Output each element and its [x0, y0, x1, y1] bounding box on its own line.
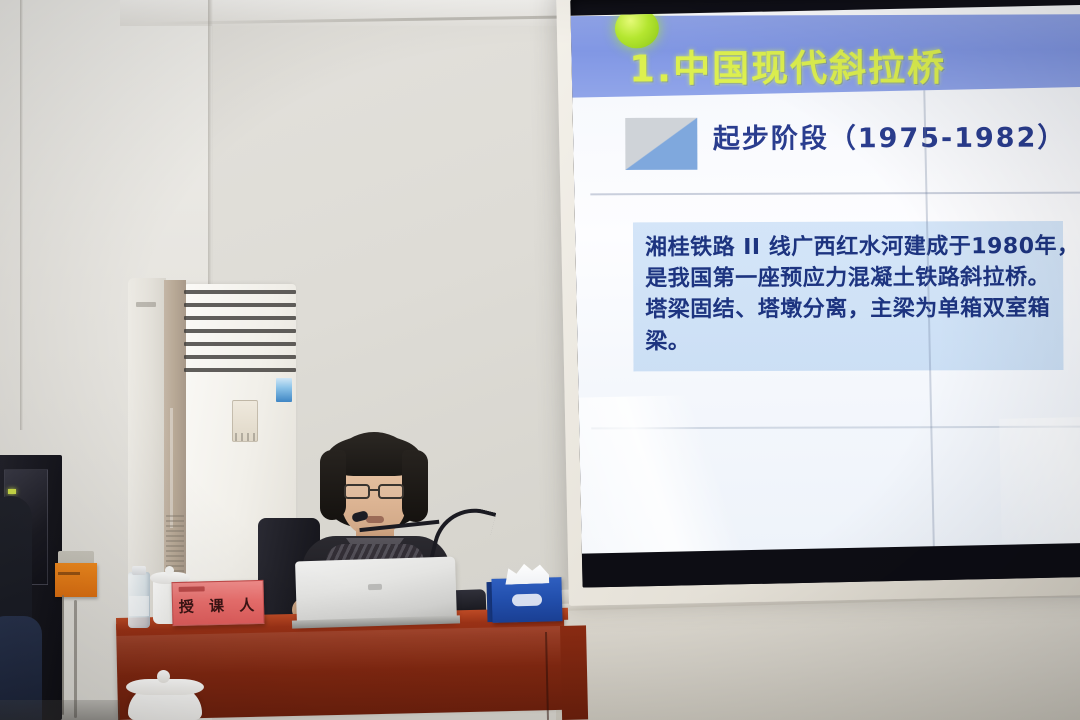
podium-right-section	[560, 625, 588, 720]
projection-screen-frame: 1.中国现代斜拉桥 起步阶段（1975-1982） 湘桂铁路 II 线广西红水河…	[556, 0, 1080, 606]
junction-box-label	[58, 572, 80, 575]
screen-glare-secondary	[999, 415, 1080, 556]
power-cable	[62, 595, 64, 715]
diagonal-square-icon	[625, 118, 697, 170]
slide-subtitle: 起步阶段（1975-1982）	[713, 116, 1067, 156]
instructor-nameplate: 授 课 人	[171, 580, 264, 626]
teapot-lid-knob[interactable]	[157, 670, 170, 683]
laptop-brand-logo-icon	[368, 584, 382, 590]
slide-body: 起步阶段（1975-1982） 湘桂铁路 II 线广西红水河建成于1980年， …	[572, 87, 1080, 556]
slide-body-line: 梁。	[645, 325, 1051, 358]
floor-shadow	[0, 700, 120, 720]
orange-wall-junction-box[interactable]	[55, 563, 97, 597]
ac-brand-logo-icon	[136, 302, 156, 307]
laptop-computer[interactable]	[295, 557, 457, 626]
ac-louver-grille	[184, 286, 296, 372]
ac-pillar-highlight	[170, 408, 173, 528]
wall-seam	[20, 0, 23, 430]
ac-vent-grille	[166, 514, 184, 572]
slide-divider-lower	[591, 426, 1080, 430]
ac-energy-label	[276, 378, 292, 402]
slide-title: 1.中国现代斜拉桥	[629, 37, 946, 92]
slide-body-textbox: 湘桂铁路 II 线广西红水河建成于1980年， 是我国第一座预应力混凝土铁路斜拉…	[633, 221, 1064, 371]
presentation-slide: 1.中国现代斜拉桥 起步阶段（1975-1982） 湘桂铁路 II 线广西红水河…	[571, 5, 1080, 556]
slide-body-line: 是我国第一座预应力混凝土铁路斜拉桥。	[645, 262, 1051, 295]
slide-divider-upper	[590, 192, 1080, 196]
hair-left-side	[320, 450, 346, 520]
status-led-icon	[8, 489, 16, 494]
ac-control-buttons[interactable]	[235, 433, 255, 441]
bottle-cap[interactable]	[132, 566, 146, 575]
slide-body-line: 湘桂铁路 II 线广西红水河建成于1980年，	[645, 231, 1051, 264]
tissue-box-logo-icon	[512, 594, 542, 607]
nameplate-logo-icon	[179, 586, 205, 592]
screen-glare	[571, 392, 856, 556]
wainscot-panel	[556, 598, 1080, 720]
glasses-left-lens-icon	[344, 484, 370, 499]
nameplate-text: 授 课 人	[173, 594, 265, 617]
slide-body-line: 塔梁固结、塔墩分离，主梁为单箱双室箱	[645, 293, 1051, 326]
glasses-bridge-icon	[370, 489, 378, 491]
lecture-room-photo: 1.中国现代斜拉桥 起步阶段（1975-1982） 湘桂铁路 II 线广西红水河…	[0, 0, 1080, 720]
tea-cup-lid-knob[interactable]	[165, 566, 174, 575]
bottle-label	[129, 596, 149, 616]
projection-screen: 1.中国现代斜拉桥 起步阶段（1975-1982） 湘桂铁路 II 线广西红水河…	[570, 0, 1080, 588]
